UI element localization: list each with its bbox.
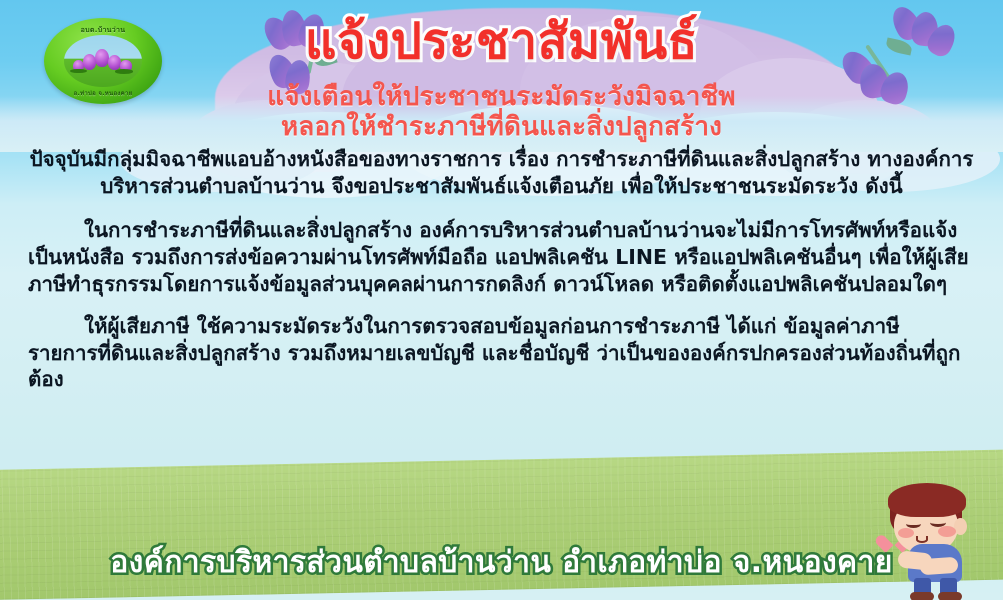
organization-footer: องค์การบริหารส่วนตำบลบ้านว่าน อำเภอท่าบ่…	[0, 539, 1003, 586]
page-title: แจ้งประชาสัมพันธ์	[0, 16, 1003, 67]
boy-eye	[930, 518, 946, 527]
boy-hair-front	[888, 483, 966, 517]
paragraph-3: ให้ผู้เสียภาษี ใช้ความระมัดระวังในการตรว…	[28, 313, 975, 393]
boy-cheek	[938, 526, 956, 537]
boy-shoe	[938, 592, 962, 600]
paragraph-2: ในการชำระภาษีที่ดินและสิ่งปลูกสร้าง องค์…	[28, 217, 975, 297]
paragraph-1: ปัจจุบันมีกลุ่มมิจฉาชีพแอบอ้างหนังสือของ…	[28, 146, 975, 199]
boy-ear	[954, 518, 967, 535]
seal-leaf	[115, 69, 133, 73]
boy-shoe	[910, 592, 934, 600]
boy-eye	[906, 520, 921, 528]
announcement-body: ปัจจุบันมีกลุ่มมิจฉาชีพแอบอ้างหนังสือของ…	[28, 146, 975, 393]
subtitle-line-2: หลอกให้ชำระภาษีที่ดินและสิ่งปลูกสร้าง	[0, 112, 1003, 143]
subtitle-line-1: แจ้งเตือนให้ประชาชนระมัดระวังมิจฉาชีพ	[0, 82, 1003, 113]
announcement-poster: อบต.บ้านว่าน อ.ท่าบ่อ จ.หนองคาย แจ้งประช…	[0, 0, 1003, 600]
seal-leaf	[70, 69, 87, 74]
boy-cheek	[898, 528, 914, 538]
